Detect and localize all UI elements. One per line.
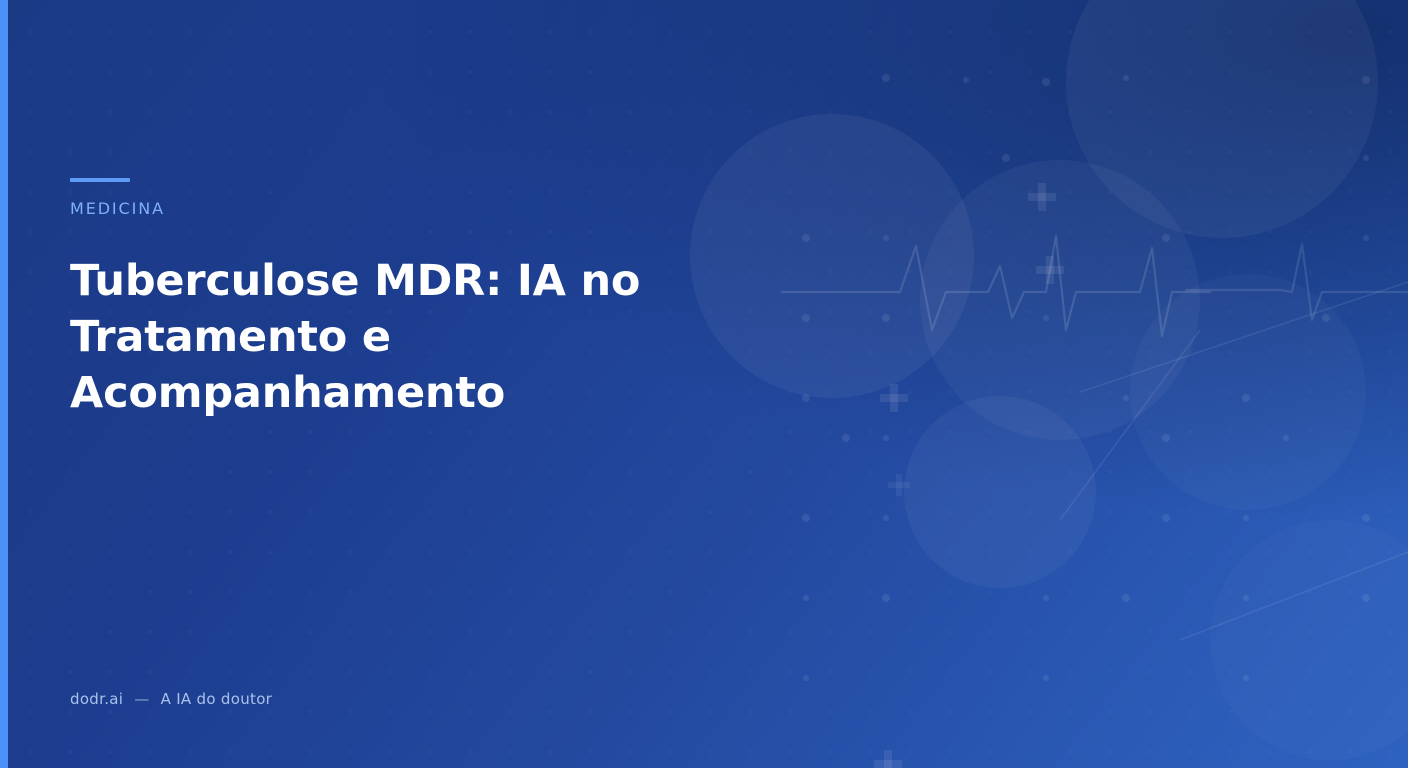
decor-dot [1362,514,1370,522]
decor-dot [1242,394,1250,402]
footer-brand: dodr.ai [70,690,123,708]
decor-dot [1243,595,1249,601]
medical-cross-icon [1036,256,1064,284]
decor-diagonal [1180,552,1408,640]
medical-cross-group [874,183,1064,768]
decor-circle [1210,520,1408,760]
decor-dot [1362,76,1370,84]
decor-dot [882,594,890,602]
decor-circle [1130,274,1366,510]
decor-dot [1162,234,1170,242]
decor-diagonal [1060,330,1200,520]
medical-cross-icon [888,474,910,496]
decor-dot [1123,395,1129,401]
decor-dot [1322,314,1330,322]
decor-dot [1043,595,1049,601]
decor-dot [1002,154,1010,162]
slide-content: MEDICINA Tuberculose MDR: IA no Tratamen… [70,0,830,768]
slide-canvas: MEDICINA Tuberculose MDR: IA no Tratamen… [0,0,1408,768]
ecg-waveform [1186,244,1408,320]
decor-dot [1362,594,1370,602]
decor-dot [1243,675,1249,681]
decor-dot [883,435,889,441]
decor-dot [882,74,890,82]
page-title: Tuberculose MDR: IA no Tratamento e Acom… [70,253,790,421]
decor-dot [1123,75,1129,81]
decor-dot [1162,514,1170,522]
decor-dot [1043,675,1049,681]
decor-diagonal-group [1060,282,1408,640]
page-title-line: Tuberculose MDR: IA no [70,253,790,309]
footer-tagline: A IA do doutor [161,690,273,708]
decor-dot [1363,155,1369,161]
decor-dot [1042,78,1050,86]
decor-circle [904,396,1096,588]
decor-dot [882,314,890,322]
medical-cross-icon [874,750,902,768]
footer-separator: — [134,690,149,708]
accent-rule [70,178,130,182]
decor-dot [1122,594,1130,602]
decor-dot [1043,315,1049,321]
decor-dot [963,77,969,83]
decor-circle [920,160,1200,440]
decor-dot [1363,235,1369,241]
decor-dot [1243,515,1249,521]
medical-cross-icon [880,384,908,412]
decor-dot-group [802,74,1370,681]
decor-dot [842,434,850,442]
ecg-waveform [782,236,1210,336]
decor-circle [1066,0,1378,238]
page-title-line: Tratamento e Acompanhamento [70,309,790,421]
medical-cross-icon [1028,183,1056,211]
decor-dot [883,515,889,521]
decor-dot [883,235,889,241]
footer: dodr.ai — A IA do doutor [70,690,272,708]
decor-dot [1283,435,1289,441]
decor-diagonal [1080,282,1408,392]
left-edge-accent-bar [0,0,8,768]
category-eyebrow: MEDICINA [70,199,165,218]
decor-dot [1162,434,1170,442]
